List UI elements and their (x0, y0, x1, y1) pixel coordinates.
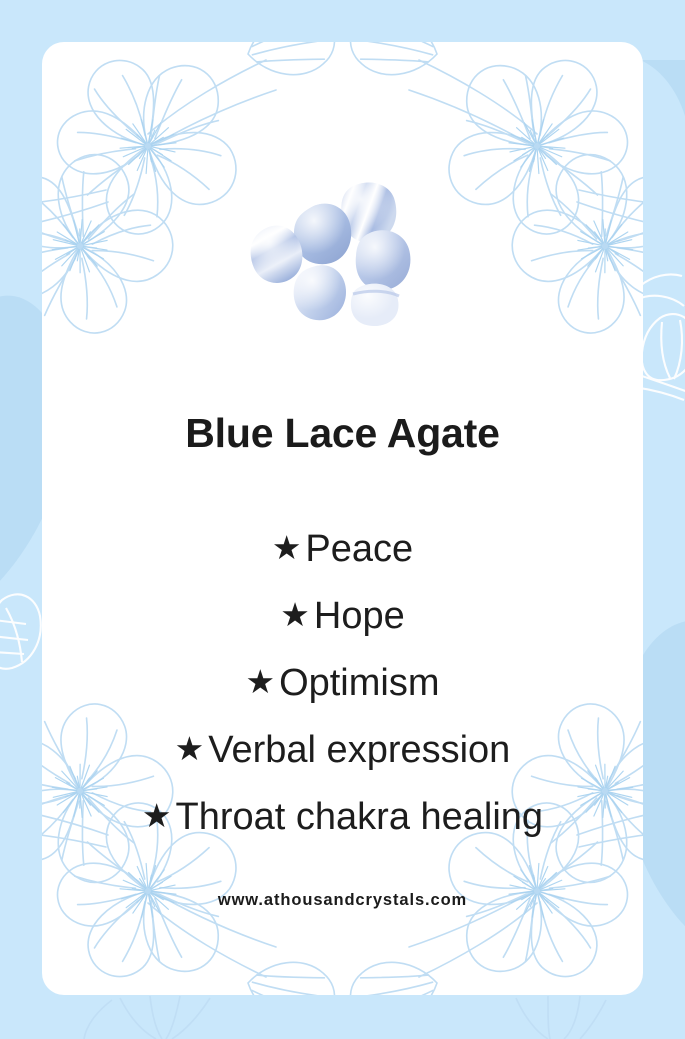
floral-cluster-top-left (42, 42, 342, 358)
background-leaf-left (0, 594, 41, 668)
background-flower-tails (84, 996, 606, 1039)
card-floral-decoration (42, 42, 643, 995)
floral-cluster-bottom-right (343, 679, 643, 995)
floral-cluster-bottom-left (42, 679, 342, 995)
crystal-info-poster: Blue Lace Agate ★Peace ★Hope ★Optimism ★… (0, 0, 685, 1039)
poster-card (42, 42, 643, 995)
floral-cluster-top-right (343, 42, 643, 358)
